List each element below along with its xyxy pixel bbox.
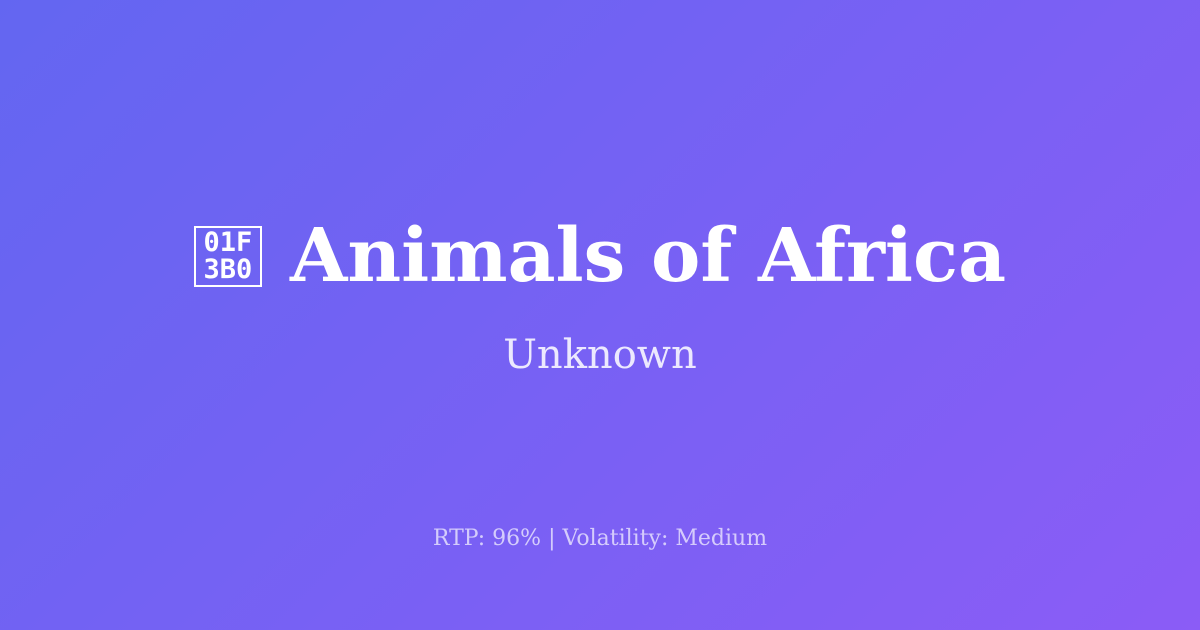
og-card: 01F 3B0 Animals of Africa Unknown RTP: 9… bbox=[0, 0, 1200, 630]
game-meta-line: RTP: 96% | Volatility: Medium bbox=[0, 528, 1200, 550]
page-title: Animals of Africa bbox=[290, 219, 1006, 293]
tofu-codepoint-top: 01F bbox=[204, 229, 253, 256]
slot-machine-emoji-icon: 01F 3B0 bbox=[194, 226, 262, 287]
title-row: 01F 3B0 Animals of Africa bbox=[194, 219, 1006, 293]
subtitle: Unknown bbox=[503, 335, 697, 375]
tofu-codepoint-bottom: 3B0 bbox=[204, 256, 253, 283]
